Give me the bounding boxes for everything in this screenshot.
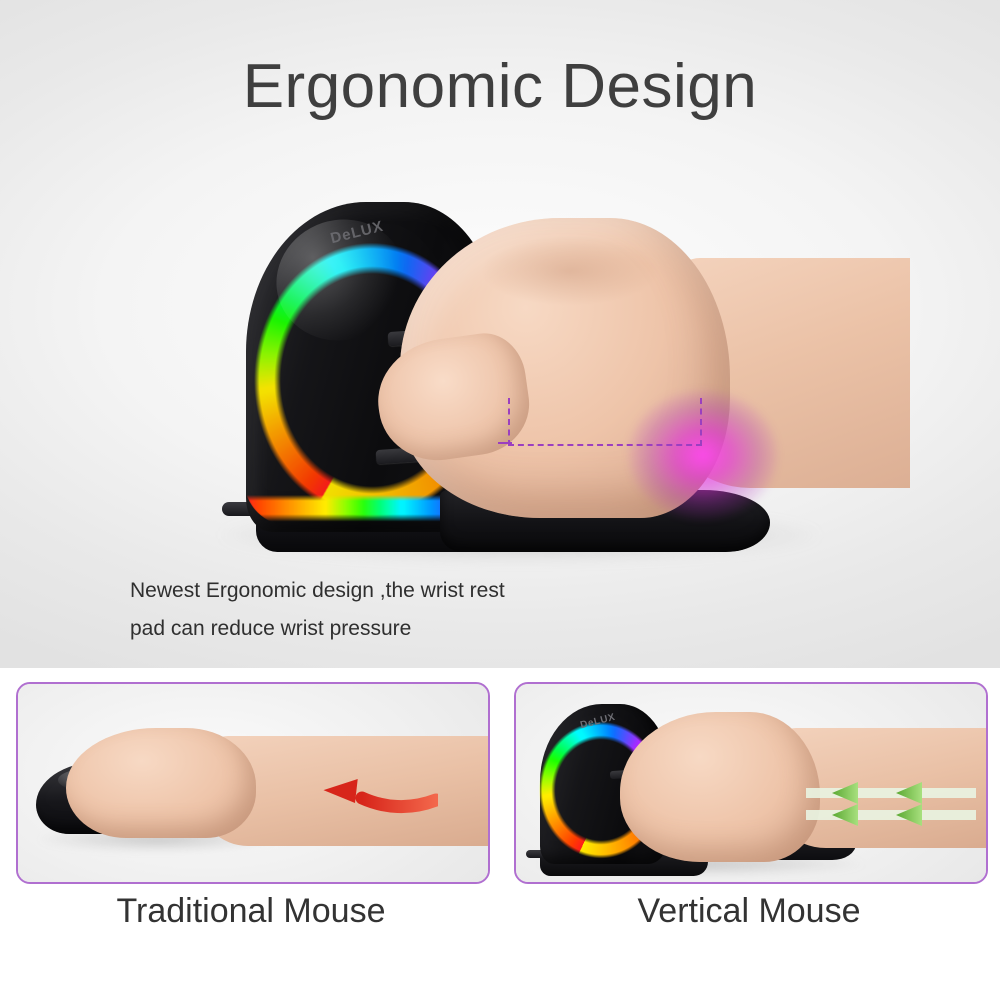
label-traditional-mouse: Traditional Mouse bbox=[16, 892, 486, 931]
hero-panel: Ergonomic Design DeLUX bbox=[0, 0, 1000, 668]
product-infographic-page: Ergonomic Design DeLUX bbox=[0, 0, 1000, 1000]
hero-caption: Newest Ergonomic design ,the wrist rest … bbox=[130, 572, 690, 648]
panel-vertical-mouse: DeLUX bbox=[514, 682, 988, 884]
green-straight-arrows-icon bbox=[746, 776, 976, 836]
callout-dashed-line bbox=[508, 398, 702, 446]
caption-line-1: Newest Ergonomic design ,the wrist rest bbox=[130, 579, 505, 602]
comparison-section: Traditional Mouse DeLUX bbox=[0, 668, 1000, 1000]
knuckle-shading bbox=[480, 236, 660, 306]
hand-graphic bbox=[360, 218, 840, 548]
label-vertical-mouse: Vertical Mouse bbox=[514, 892, 984, 931]
callout-connector bbox=[498, 442, 512, 444]
panel-traditional-mouse bbox=[16, 682, 490, 884]
page-title: Ergonomic Design bbox=[0, 52, 1000, 122]
red-twist-arrow-icon bbox=[318, 770, 438, 814]
hand-left bbox=[66, 728, 256, 838]
caption-line-2: pad can reduce wrist pressure bbox=[130, 610, 690, 648]
product-photo: DeLUX bbox=[190, 190, 840, 580]
